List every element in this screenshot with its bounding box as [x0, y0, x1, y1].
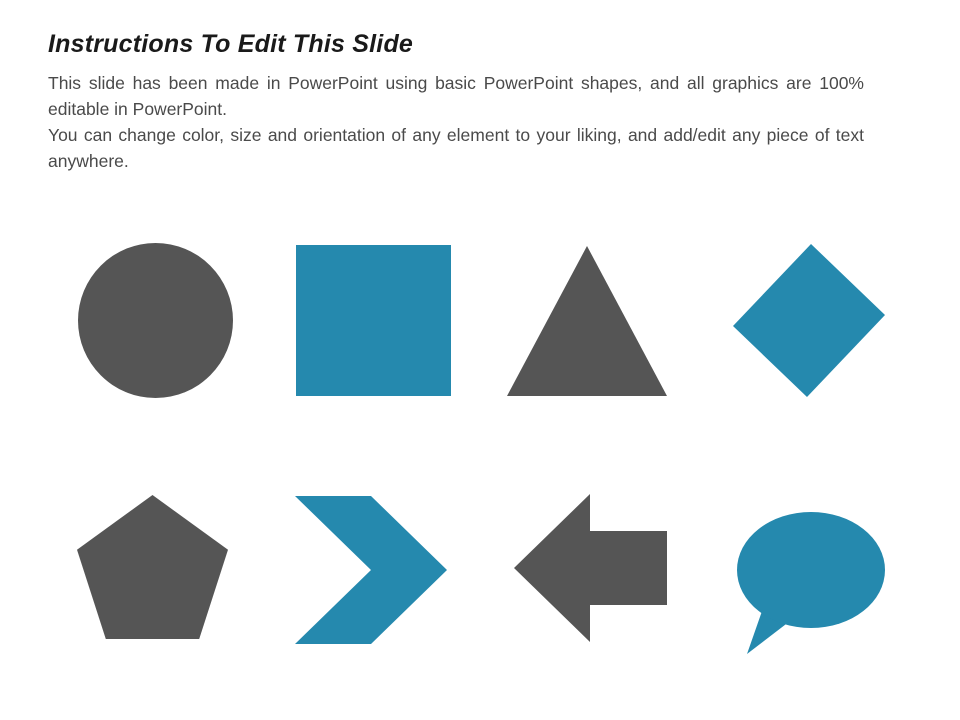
shape-speech-bubble[interactable] — [737, 512, 885, 654]
circle-icon — [78, 243, 233, 398]
slide-canvas: Instructions To Edit This Slide This sli… — [0, 0, 960, 720]
instructions-text-block: This slide has been made in PowerPoint u… — [48, 70, 864, 200]
shape-square[interactable] — [296, 245, 451, 396]
instructions-paragraph-2: You can change color, size and orientati… — [48, 122, 864, 200]
shape-chevron-right[interactable] — [295, 496, 447, 644]
shape-triangle[interactable] — [507, 246, 667, 396]
shape-pentagon[interactable] — [77, 495, 228, 639]
instructions-paragraph-1: This slide has been made in PowerPoint u… — [48, 70, 864, 122]
page-title: Instructions To Edit This Slide — [48, 29, 908, 59]
square-icon — [296, 245, 451, 396]
speech-bubble-body-icon — [737, 512, 885, 628]
diamond-icon — [733, 244, 885, 397]
shape-circle[interactable] — [78, 243, 233, 398]
pentagon-icon — [77, 495, 228, 639]
arrow-left-icon — [514, 494, 667, 642]
triangle-icon — [507, 246, 667, 396]
shape-arrow-left[interactable] — [514, 494, 667, 642]
shape-diamond[interactable] — [733, 244, 885, 397]
chevron-right-icon — [295, 496, 447, 644]
